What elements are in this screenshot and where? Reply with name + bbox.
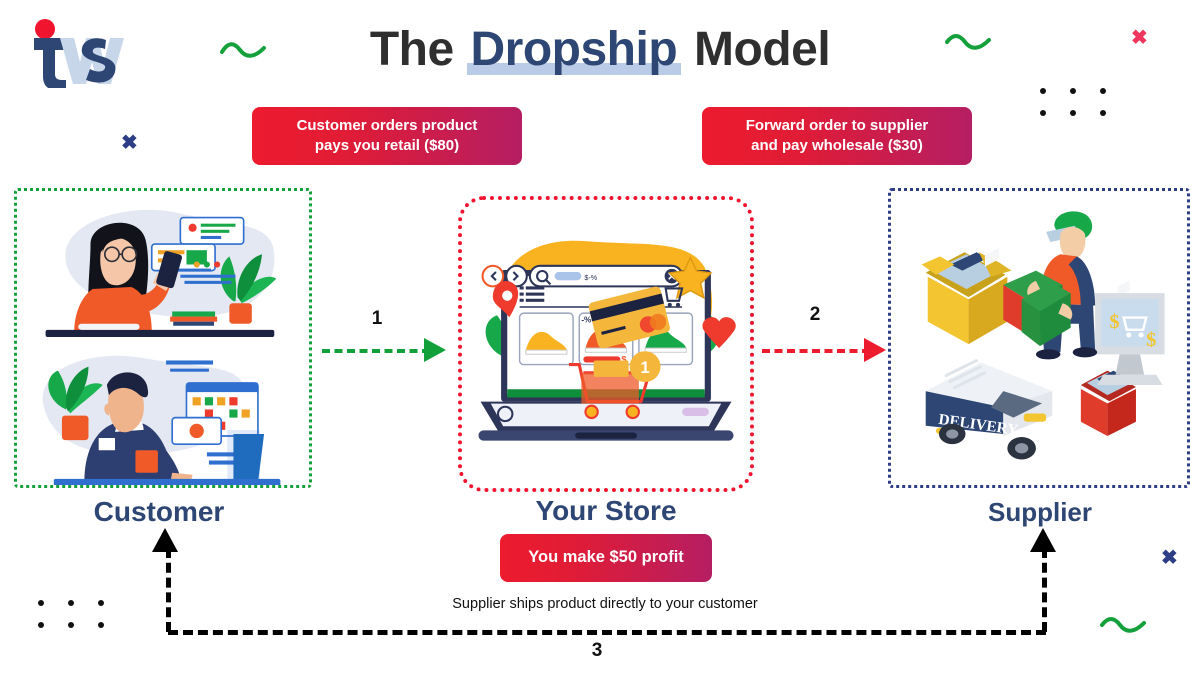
x-mark-navy-bottom-right: ✖ xyxy=(1161,548,1178,568)
label-your-store: Your Store xyxy=(491,495,721,527)
return-flow-left-arrowhead xyxy=(152,528,178,552)
return-flow-right-line xyxy=(1042,548,1047,632)
banner-profit-label: You make $50 profit xyxy=(528,547,684,569)
step-number-3: 3 xyxy=(575,640,619,662)
svg-text:$: $ xyxy=(1146,329,1156,351)
step-number-2: 2 xyxy=(793,304,837,326)
title-highlight: Dropship xyxy=(467,22,682,77)
title-highlight-text: Dropship xyxy=(471,23,678,76)
delivery-van: DELIVERY xyxy=(926,359,1053,460)
label-customer: Customer xyxy=(44,496,274,528)
panel-your-store: $-% xyxy=(458,196,754,492)
panel-supplier: $ $ xyxy=(888,188,1190,488)
svg-text:$-%: $-% xyxy=(584,273,597,282)
return-flow-bottom-line xyxy=(168,630,1046,635)
return-flow-left-line xyxy=(166,548,171,632)
page-title: The Dropship Model xyxy=(0,22,1200,77)
squiggle-top-left xyxy=(220,40,268,65)
supplier-warehouse-illustration: $ $ xyxy=(891,191,1187,485)
online-store-laptop-illustration: $-% xyxy=(462,200,750,488)
dot-grid-bottom-left xyxy=(38,600,128,644)
return-flow-right-arrowhead xyxy=(1030,528,1056,552)
scene-man-at-computer xyxy=(43,356,281,485)
delivery-worker xyxy=(1003,211,1097,402)
svg-text:-%: -% xyxy=(581,315,592,324)
title-part-before: The xyxy=(370,23,467,76)
desktop-monitor-with-cart: $ $ xyxy=(1095,293,1164,385)
scene-woman-with-phone xyxy=(46,210,277,337)
arrow-step-1-head xyxy=(424,338,446,362)
title-part-after: Model xyxy=(681,23,830,76)
open-yellow-box xyxy=(922,248,1012,344)
x-mark-navy-left: ✖ xyxy=(121,133,138,153)
squiggle-top-right xyxy=(945,32,993,57)
svg-text:1: 1 xyxy=(641,359,650,377)
banner-forward-order: Forward order to supplier and pay wholes… xyxy=(702,107,972,165)
banner-customer-order-line2: pays you retail ($80) xyxy=(315,137,459,154)
arrow-step-2-head xyxy=(864,338,886,362)
arrow-step-1-line xyxy=(322,349,430,353)
label-supplier: Supplier xyxy=(925,497,1155,528)
banner-profit: You make $50 profit xyxy=(500,534,712,582)
step-number-1: 1 xyxy=(355,308,399,330)
infographic-canvas: The Dropship Model Customer orders produ… xyxy=(0,0,1200,675)
banner-customer-order: Customer orders product pays you retail … xyxy=(252,107,522,165)
banner-forward-order-line2: and pay wholesale ($30) xyxy=(751,137,923,154)
banner-customer-order-line1: Customer orders product xyxy=(297,117,478,134)
return-flow-caption: Supplier ships product directly to your … xyxy=(375,596,835,612)
customer-illustration xyxy=(17,191,309,485)
dot-grid-top-right xyxy=(1040,88,1130,132)
squiggle-bottom-right xyxy=(1100,615,1148,640)
panel-customer xyxy=(14,188,312,488)
arrow-step-2-line xyxy=(762,349,870,353)
x-mark-pink-top-right: ✖ xyxy=(1131,28,1148,48)
banner-forward-order-line1: Forward order to supplier xyxy=(746,117,929,134)
svg-text:$: $ xyxy=(1109,311,1119,333)
